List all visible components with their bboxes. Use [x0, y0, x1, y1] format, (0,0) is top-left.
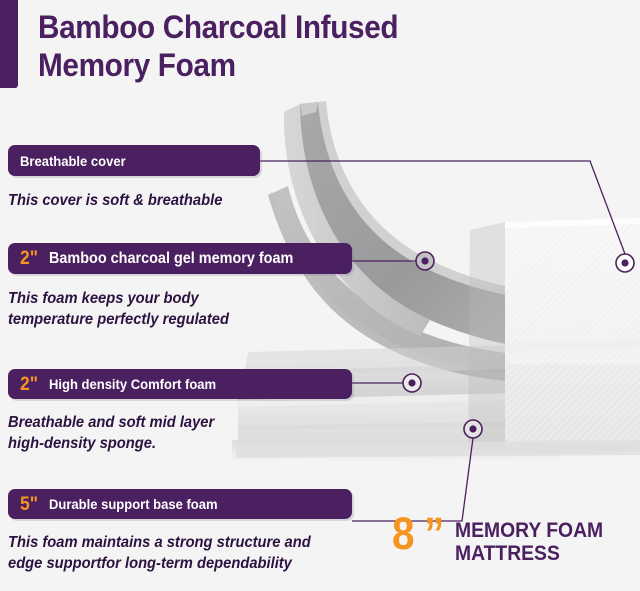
- badge-bamboo-charcoal-gel[interactable]: 2" Bamboo charcoal gel memory foam: [8, 243, 352, 274]
- badge-durable-support-base[interactable]: 5" Durable support base foam: [8, 489, 352, 519]
- description-high-density-comfort: Breathable and soft mid layer high-densi…: [8, 412, 322, 454]
- product-size: 8 ”: [392, 513, 443, 555]
- description-durable-support-base: This foam maintains a strong structure a…: [8, 532, 341, 574]
- page-title: Bamboo Charcoal Infused Memory Foam: [38, 8, 508, 84]
- description-breathable-cover: This cover is soft & breathable: [8, 190, 322, 211]
- badge-label-bamboo-charcoal-gel: Bamboo charcoal gel memory foam: [49, 251, 293, 267]
- infographic-canvas: Bamboo Charcoal Infused Memory Foam Brea…: [0, 0, 640, 591]
- callout-dot-group: [403, 252, 634, 438]
- description-bamboo-charcoal-gel: This foam keeps your body temperature pe…: [8, 288, 322, 330]
- dot-high-density-comfort: [403, 374, 421, 392]
- dot-bamboo-charcoal-gel: [416, 252, 434, 270]
- badge-label-breathable-cover: Breathable cover: [20, 154, 126, 168]
- badge-high-density-comfort[interactable]: 2" High density Comfort foam: [8, 369, 352, 399]
- page-title-line-2: Memory Foam: [38, 46, 475, 84]
- badge-inches-high-density-comfort: 2": [20, 375, 38, 394]
- page-title-line-1: Bamboo Charcoal Infused: [38, 8, 475, 46]
- badge-label-durable-support-base: Durable support base foam: [49, 497, 218, 511]
- badge-inches-bamboo-charcoal-gel: 2": [20, 249, 38, 268]
- dot-durable-support-base: [464, 420, 482, 438]
- header-accent-bar: [0, 0, 18, 88]
- badge-breathable-cover[interactable]: Breathable cover: [8, 145, 260, 176]
- product-tag: 8 ” MEMORY FOAM MATTRESS: [392, 513, 616, 565]
- badge-inches-durable-support-base: 5": [20, 495, 38, 514]
- dot-breathable-cover: [616, 254, 634, 272]
- badge-label-high-density-comfort: High density Comfort foam: [49, 377, 216, 391]
- product-name: MEMORY FOAM MATTRESS: [455, 519, 603, 565]
